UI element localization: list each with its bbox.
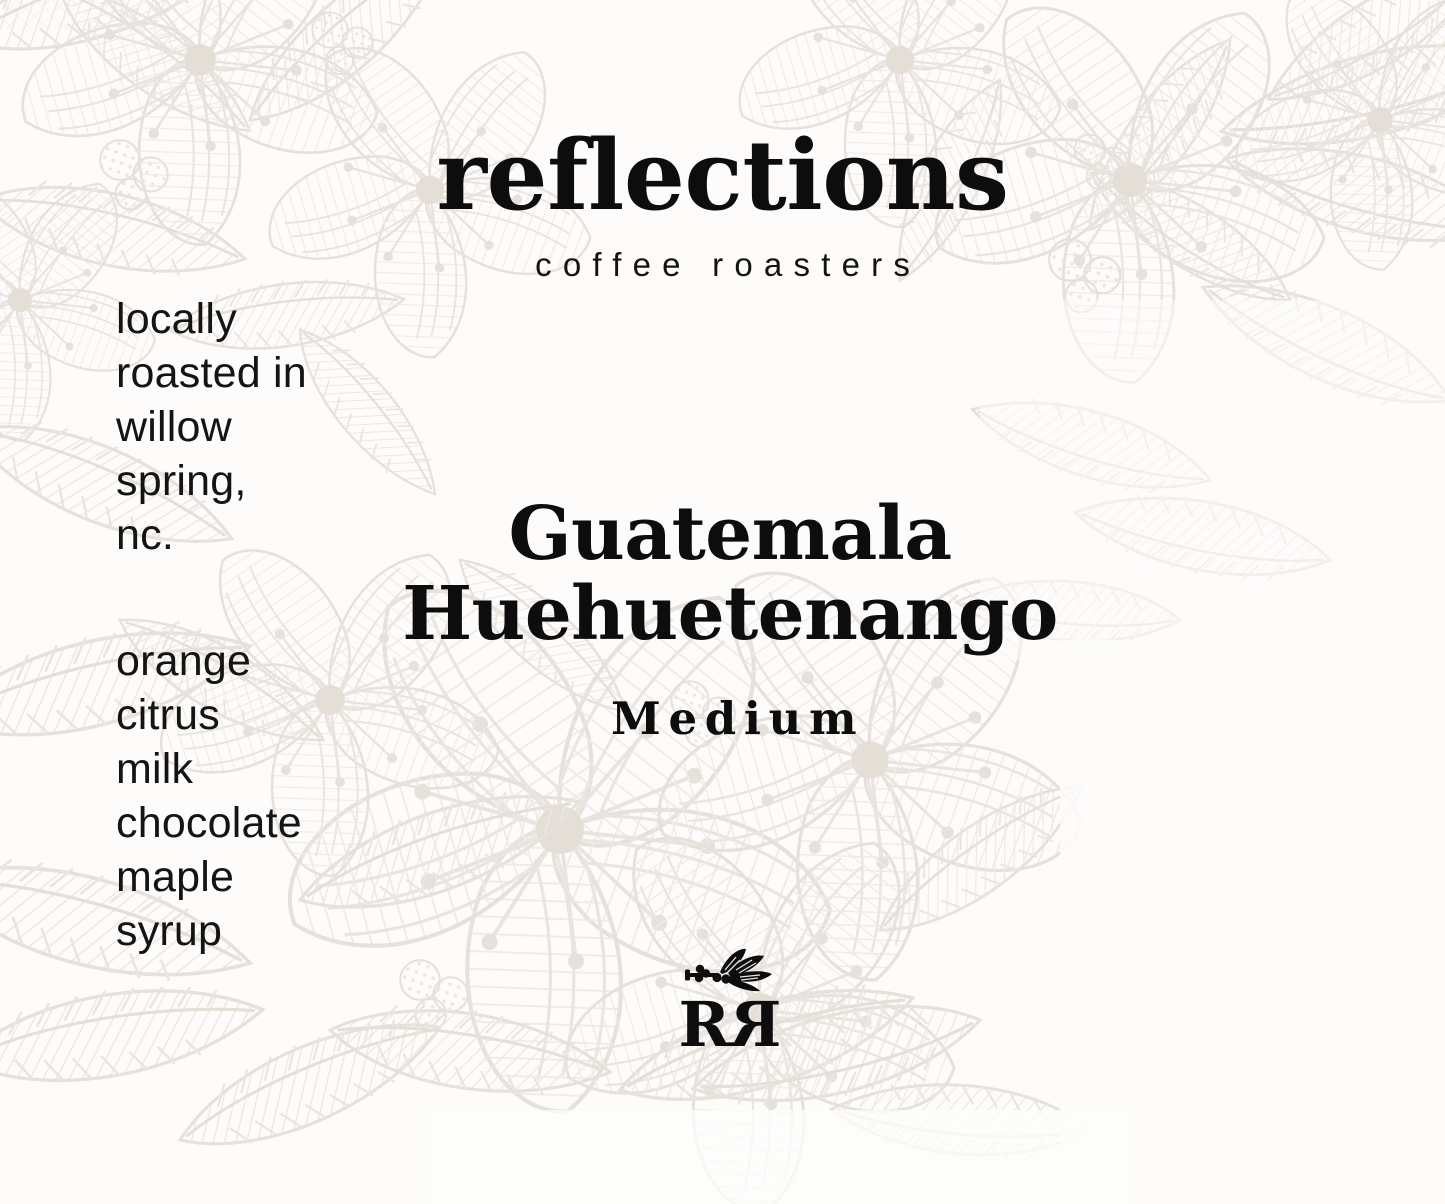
origin-line: spring,: [116, 454, 386, 508]
origin-info-block: locally roasted in willow spring, nc.: [116, 292, 386, 562]
product-name-line-1: Guatemala: [350, 494, 1110, 574]
tasting-note-line: chocolate: [116, 796, 416, 850]
tasting-note-line: maple: [116, 850, 416, 904]
origin-line: roasted in: [116, 346, 386, 400]
product-name-line-2: Huehuetenango: [350, 574, 1110, 654]
origin-line: locally: [116, 292, 386, 346]
origin-line: willow: [116, 400, 386, 454]
brand-tagline: coffee roasters: [0, 246, 1445, 284]
coffee-bag-label: reflections coffee roasters locally roas…: [0, 0, 1445, 1204]
product-name-block: Guatemala Huehuetenango: [350, 494, 1110, 654]
logo-monogram: R R: [655, 996, 805, 1054]
logo-mark: R R: [655, 948, 805, 1054]
tasting-notes-block: orange citrus milk chocolate maple syrup: [116, 634, 416, 958]
logo-letter-left: R: [678, 996, 730, 1054]
brand-block: reflections coffee roasters: [0, 128, 1445, 284]
tasting-note-line: milk: [116, 742, 416, 796]
tasting-note-line: syrup: [116, 904, 416, 958]
roast-level: Medium: [350, 692, 1118, 745]
brand-name: reflections: [0, 128, 1445, 224]
logo-letter-right-mirrored: R: [730, 996, 782, 1054]
origin-line: nc.: [116, 508, 386, 562]
